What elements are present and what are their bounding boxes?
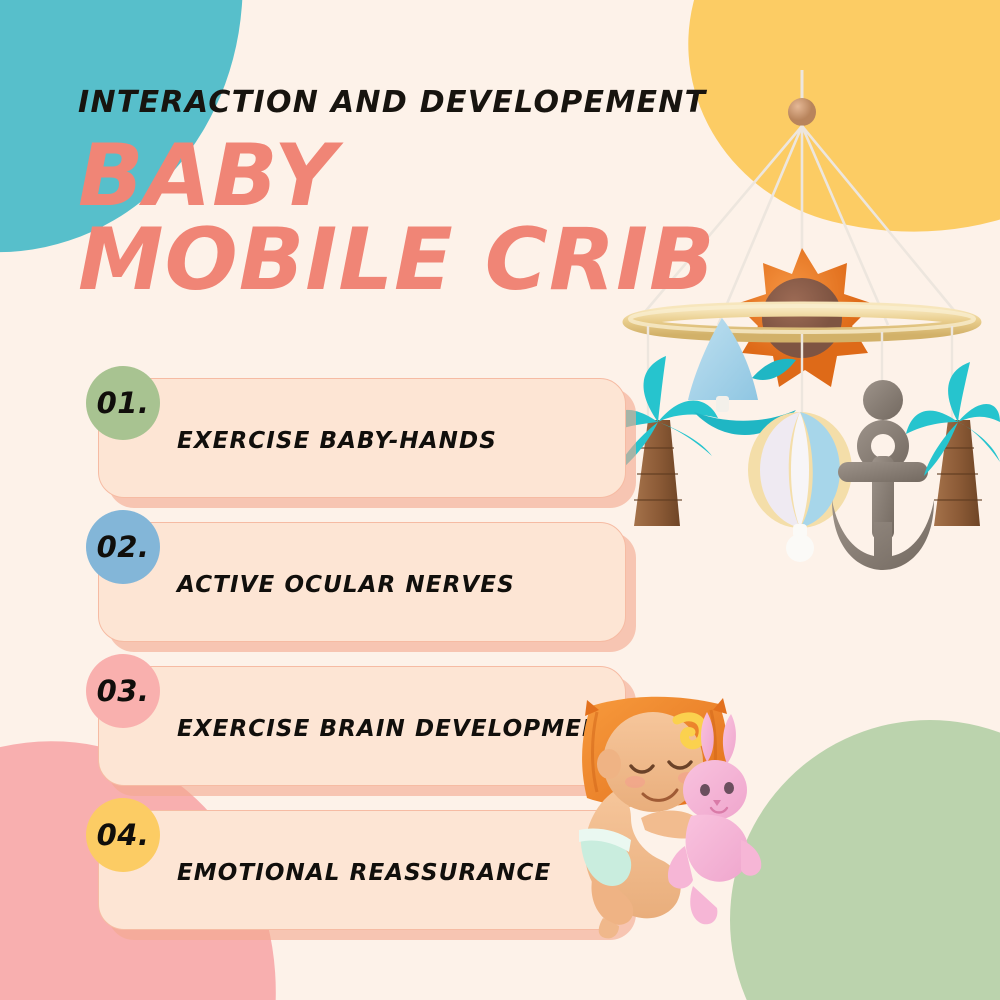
feature-label: EXERCISE BABY-HANDS (99, 429, 513, 454)
list-item[interactable]: EXERCISE BABY-HANDS 01. (98, 378, 638, 508)
page-title: BABY MOBILE CRIB (78, 134, 718, 303)
number-badge-03: 03. (86, 654, 160, 728)
grey-felt-anchor (832, 380, 934, 570)
sleeping-baby-with-bunny (535, 690, 795, 940)
wooden-hanging-bead (788, 98, 816, 126)
felt-hot-air-balloon (748, 412, 852, 562)
orange-felt-sun (736, 248, 874, 387)
feature-label: ACTIVE OCULAR NERVES (99, 573, 531, 598)
feature-card-1[interactable]: EXERCISE BABY-HANDS (98, 378, 626, 498)
number-badge-01: 01. (86, 366, 160, 440)
eyebrow-text: INTERACTION AND DEVELOPEMENT (78, 88, 718, 118)
poster-canvas: INTERACTION AND DEVELOPEMENT BABY MOBILE… (0, 0, 1000, 1000)
teal-palm-tree-right (906, 362, 1000, 526)
feature-label: EMOTIONAL REASSURANCE (99, 861, 567, 886)
number-badge-02: 02. (86, 510, 160, 584)
list-item[interactable]: ACTIVE OCULAR NERVES 02. (98, 522, 638, 652)
header-block: INTERACTION AND DEVELOPEMENT BABY MOBILE… (78, 88, 718, 303)
number-badge-04: 04. (86, 798, 160, 872)
feature-card-2[interactable]: ACTIVE OCULAR NERVES (98, 522, 626, 642)
